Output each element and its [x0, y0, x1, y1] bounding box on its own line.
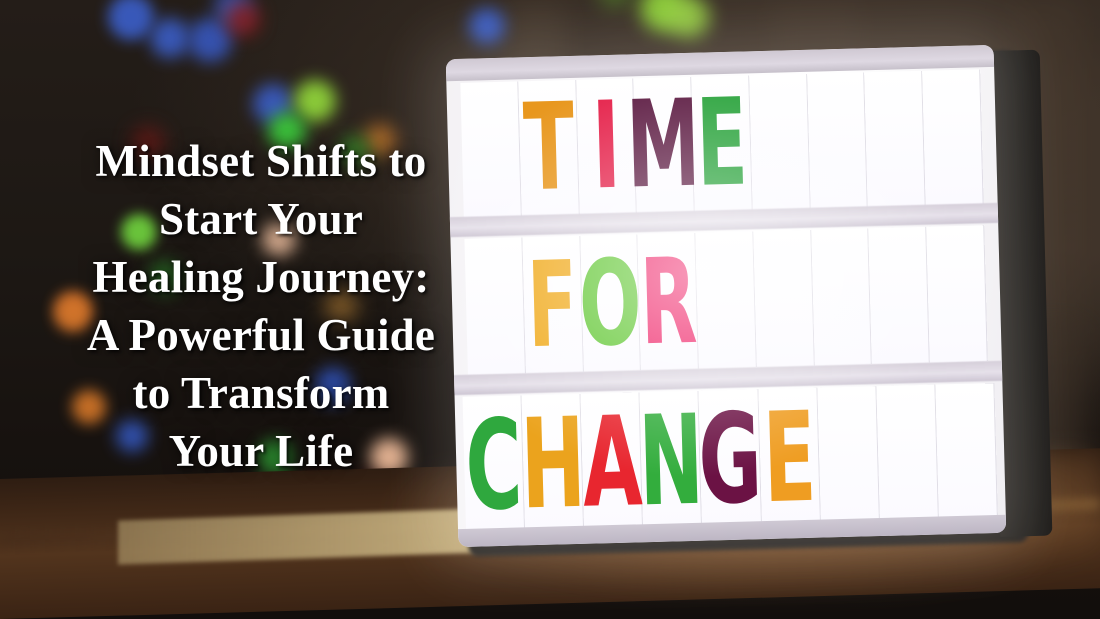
letter-card	[695, 231, 756, 368]
hero-banner: TIMEFORCHANGE Mindset Shifts toStart You…	[0, 0, 1100, 619]
letter-card: A	[581, 392, 644, 533]
letter-f: F	[526, 245, 579, 364]
letter-card: M	[634, 77, 695, 214]
letter-card	[749, 74, 810, 211]
letter-r: R	[639, 242, 698, 361]
letter-t: T	[522, 88, 576, 209]
letter-card	[811, 228, 872, 365]
letter-i: I	[591, 87, 622, 208]
letter-card	[926, 225, 987, 362]
headline-line-2: Start Your	[26, 190, 496, 248]
letter-card: G	[699, 389, 762, 530]
bokeh-light	[226, 2, 260, 36]
letter-o: O	[578, 243, 643, 363]
letter-a: A	[581, 400, 644, 526]
letter-card	[935, 383, 998, 524]
headline-line-1: Mindset Shifts to	[26, 132, 496, 190]
letter-card: F	[522, 236, 583, 373]
lightbox-row-time: TIME	[460, 69, 997, 219]
letter-card: R	[638, 233, 699, 370]
letter-card	[869, 227, 930, 364]
headline-line-3: Healing Journey:	[26, 248, 496, 306]
letter-e: E	[762, 396, 818, 521]
lightbox-row-for: FOR	[464, 225, 1001, 375]
letter-g: G	[697, 397, 763, 523]
letter-card	[865, 71, 926, 208]
letter-card: O	[580, 234, 641, 371]
letter-card	[922, 69, 983, 206]
headline-line-5: to Transform	[26, 364, 496, 422]
lightbox-front-panel: TIMEFORCHANGE	[446, 45, 1007, 547]
letter-h: H	[519, 402, 587, 528]
headline-line-4: A Powerful Guide	[26, 306, 496, 364]
cinema-lightbox-sign: TIMEFORCHANGE	[446, 45, 1007, 547]
bokeh-light	[469, 8, 505, 44]
letter-n: N	[637, 399, 705, 525]
letter-card	[817, 386, 880, 527]
letter-card	[807, 72, 868, 209]
letter-card: E	[758, 388, 821, 529]
headline-line-6: Your Life	[26, 422, 496, 480]
letter-card: E	[691, 75, 752, 212]
letter-card	[876, 385, 939, 526]
letter-card	[753, 230, 814, 367]
letter-card: H	[522, 394, 585, 535]
letter-card: T	[518, 80, 579, 217]
article-headline: Mindset Shifts toStart YourHealing Journ…	[26, 132, 496, 480]
bokeh-light	[150, 18, 190, 58]
letter-e: E	[695, 83, 749, 204]
bokeh-light	[294, 80, 336, 122]
lightbox-row-change: CHANGE	[463, 383, 1006, 537]
letter-card: N	[640, 391, 703, 532]
